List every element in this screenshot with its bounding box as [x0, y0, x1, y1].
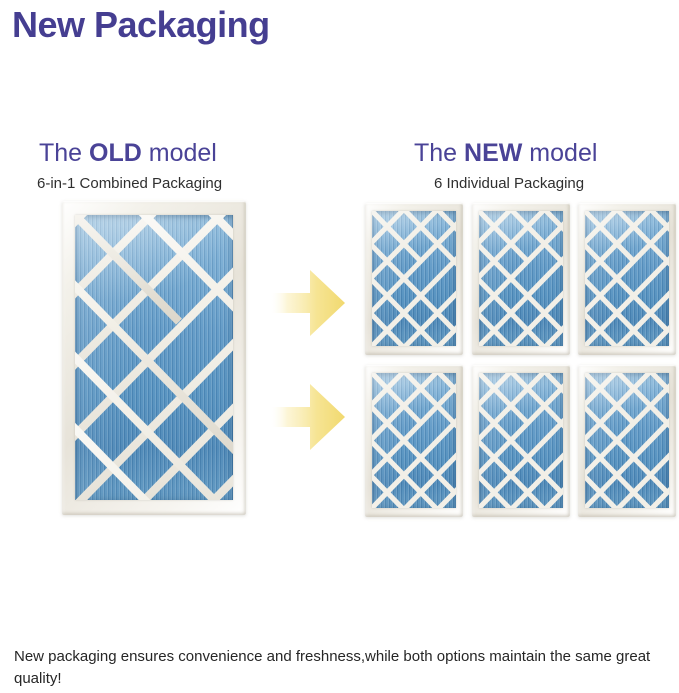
filter-window — [479, 211, 563, 346]
new-model-subtitle: 6 Individual Packaging — [434, 176, 584, 193]
filter-window — [585, 373, 669, 508]
filter-window — [479, 373, 563, 508]
transform-arrow-top-icon — [270, 267, 346, 339]
new-model-heading: The NEW model — [414, 140, 597, 168]
filter-window — [75, 215, 233, 500]
new-packaging-filter-1 — [365, 203, 463, 355]
old-packaging-filter-image — [62, 201, 246, 515]
filter-pleated-media — [372, 211, 456, 346]
filter-window — [585, 211, 669, 346]
filter-window — [372, 211, 456, 346]
filter-pleated-media — [585, 211, 669, 346]
new-heading-emphasis: NEW — [464, 139, 522, 167]
filter-pleated-media — [75, 215, 233, 500]
filter-pleated-media — [479, 373, 563, 508]
new-heading-suffix: model — [522, 139, 597, 167]
filter-pleated-media — [372, 373, 456, 508]
new-packaging-filter-6 — [578, 365, 676, 517]
new-packaging-filter-5 — [472, 365, 570, 517]
new-packaging-filter-2 — [472, 203, 570, 355]
footer-caption: New packaging ensures convenience and fr… — [14, 646, 674, 690]
page-title: New Packaging — [12, 4, 270, 45]
old-model-heading: The OLD model — [39, 140, 217, 168]
old-model-subtitle: 6-in-1 Combined Packaging — [37, 176, 222, 193]
old-heading-emphasis: OLD — [89, 139, 142, 167]
old-heading-suffix: model — [142, 139, 217, 167]
new-heading-prefix: The — [414, 139, 464, 167]
filter-pleated-media — [585, 373, 669, 508]
new-packaging-filter-4 — [365, 365, 463, 517]
old-heading-prefix: The — [39, 139, 89, 167]
filter-window — [372, 373, 456, 508]
filter-pleated-media — [479, 211, 563, 346]
new-packaging-filter-3 — [578, 203, 676, 355]
transform-arrow-bottom-icon — [270, 381, 346, 453]
